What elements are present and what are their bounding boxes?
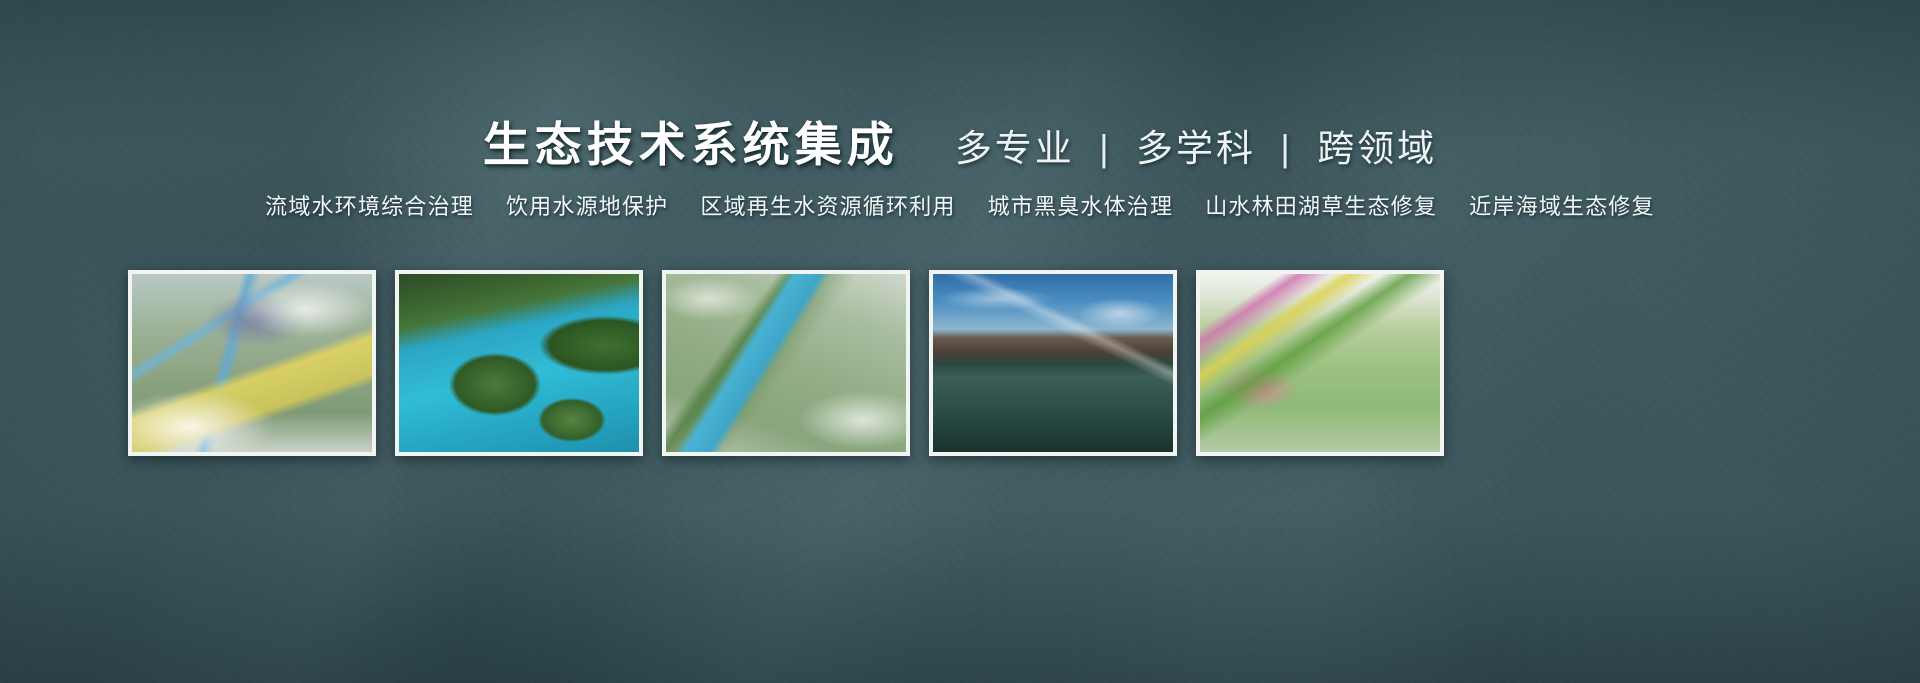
thumbnail-colorful-agricultural-fields-plan[interactable] (1196, 270, 1444, 456)
page-subtitle: 多专业 | 多学科 | 跨领域 (955, 118, 1437, 172)
thumbnail-image-3 (666, 274, 906, 452)
tagline-item-3: 区域再生水资源循环利用 (684, 189, 971, 221)
subtitle-part-3: 跨领域 (1317, 128, 1437, 169)
tagline-item-6: 近岸海域生态修复 (1453, 189, 1671, 221)
page-title: 生态技术系统集成 (483, 106, 899, 175)
tagline-item-5: 山水林田湖草生态修复 (1189, 189, 1453, 221)
tagline-item-2: 饮用水源地保护 (490, 189, 684, 221)
thumbnail-mountain-lake-reflection[interactable] (929, 270, 1177, 456)
tagline-item-1: 流域水环境综合治理 (249, 189, 490, 221)
thumbnail-image-5 (1200, 274, 1440, 452)
headline-row: 生态技术系统集成 多专业 | 多学科 | 跨领域 (0, 106, 1920, 175)
thumbnail-turquoise-lake-forest-islands[interactable] (395, 270, 643, 456)
subtitle-separator-1: | (1088, 128, 1123, 169)
ecology-technology-banner: 生态技术系统集成 多专业 | 多学科 | 跨领域 流域水环境综合治理 饮用水源地… (0, 0, 1920, 683)
thumbnail-image-4 (933, 274, 1173, 452)
project-thumbnail-gallery (128, 270, 1444, 456)
tagline-list: 流域水环境综合治理 饮用水源地保护 区域再生水资源循环利用 城市黑臭水体治理 山… (0, 189, 1920, 221)
thumbnail-image-2 (399, 274, 639, 452)
tagline-item-4: 城市黑臭水体治理 (972, 189, 1190, 221)
thumbnail-river-corridor-through-fields[interactable] (662, 270, 910, 456)
thumbnail-aerial-wetland-farmland-plan[interactable] (128, 270, 376, 456)
subtitle-part-1: 多专业 (955, 128, 1075, 169)
thumbnail-image-1 (132, 274, 372, 452)
subtitle-part-2: 多学科 (1136, 128, 1256, 169)
subtitle-separator-2: | (1269, 128, 1304, 169)
